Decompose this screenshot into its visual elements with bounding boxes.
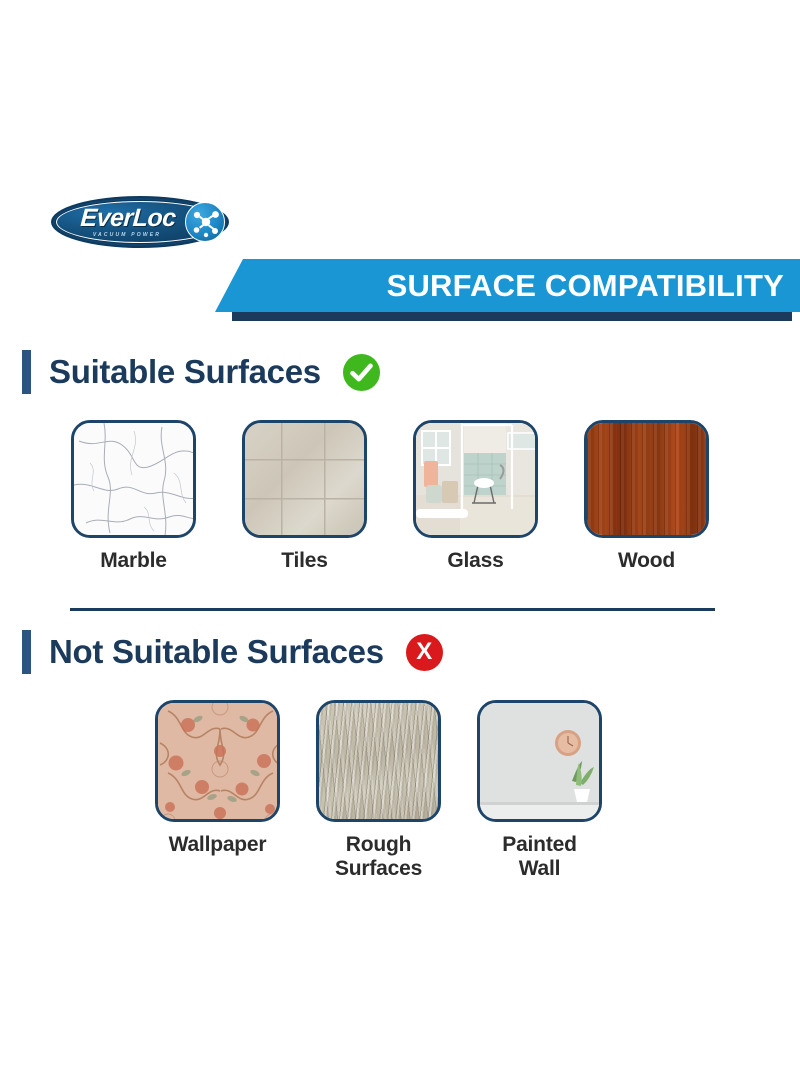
surface-label: Wallpaper <box>169 833 267 857</box>
section-heading-not-suitable: Not Suitable Surfaces X <box>22 630 443 674</box>
surface-label: Marble <box>100 549 167 573</box>
surface-card-glass[interactable]: Glass <box>413 420 538 573</box>
check-circle-icon <box>343 354 380 391</box>
logo-tagline: VACUUM POWER <box>71 232 183 238</box>
surface-label-line2: Wall <box>519 857 561 880</box>
section-title-not-suitable: Not Suitable Surfaces <box>49 633 384 671</box>
surface-card-marble[interactable]: Marble <box>71 420 196 573</box>
brand-logo: EverLoc VACUUM POWER <box>51 196 229 248</box>
surface-label: Glass <box>447 549 503 573</box>
tiles-texture <box>245 423 364 535</box>
surface-label: Painted Wall <box>502 833 576 880</box>
rough-texture <box>319 703 438 819</box>
thumbnail-painted-wall <box>477 700 602 822</box>
marble-texture <box>74 423 193 535</box>
banner-title: SURFACE COMPATIBILITY <box>387 268 784 304</box>
accent-bar <box>22 630 31 674</box>
thumbnail-rough-surfaces <box>316 700 441 822</box>
surface-card-painted-wall[interactable]: Painted Wall <box>477 700 602 880</box>
surface-label-line1: Rough <box>346 833 411 856</box>
thumbnail-glass <box>413 420 538 538</box>
thumbnail-wallpaper <box>155 700 280 822</box>
surface-card-wood[interactable]: Wood <box>584 420 709 573</box>
section-title-suitable: Suitable Surfaces <box>49 353 321 391</box>
surface-label: Wood <box>618 549 675 573</box>
painted-wall-photo <box>480 703 599 819</box>
surface-label-line2: Surfaces <box>335 857 422 880</box>
x-circle-icon: X <box>406 634 443 671</box>
surface-label: Rough Surfaces <box>335 833 422 880</box>
surface-label: Tiles <box>281 549 327 573</box>
wallpaper-texture <box>158 703 277 819</box>
vacuum-molecule-icon <box>185 202 225 242</box>
surface-card-tiles[interactable]: Tiles <box>242 420 367 573</box>
glass-shower-photo <box>416 423 535 535</box>
thumbnail-marble <box>71 420 196 538</box>
surface-card-rough[interactable]: Rough Surfaces <box>316 700 441 880</box>
wood-texture <box>587 423 706 535</box>
thumbnail-tiles <box>242 420 367 538</box>
not-suitable-surfaces-row: Wallpaper Rough Surfaces <box>155 700 602 880</box>
banner-shadow <box>232 311 792 321</box>
infographic-page: EverLoc VACUUM POWER SURFAC <box>0 0 800 1091</box>
surface-card-wallpaper[interactable]: Wallpaper <box>155 700 280 880</box>
thumbnail-wood <box>584 420 709 538</box>
suitable-surfaces-row: Marble Tiles <box>71 420 709 573</box>
section-heading-suitable: Suitable Surfaces <box>22 350 380 394</box>
accent-bar <box>22 350 31 394</box>
section-divider <box>70 608 715 611</box>
surface-compatibility-banner: SURFACE COMPATIBILITY <box>215 259 800 312</box>
surface-label-line1: Painted <box>502 833 576 856</box>
